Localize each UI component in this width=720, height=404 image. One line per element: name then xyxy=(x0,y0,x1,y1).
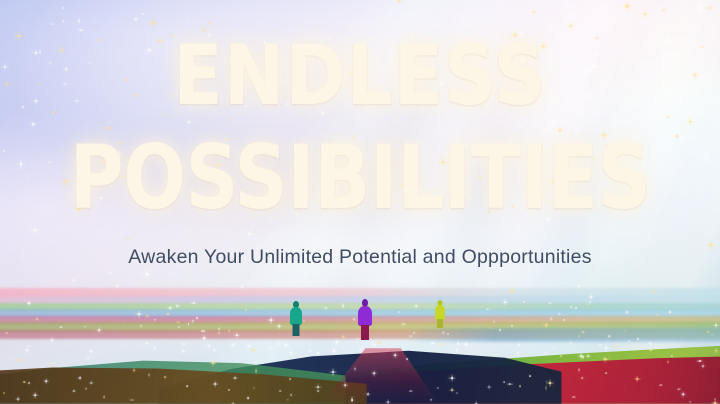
figure-center xyxy=(357,299,372,340)
figure-left xyxy=(289,301,302,335)
poster-subtitle: Awaken Your Unlimited Potential and Oppp… xyxy=(0,246,720,269)
figure-right-legs xyxy=(437,319,443,328)
figure-center-legs xyxy=(361,325,369,340)
figure-left-body xyxy=(290,307,302,325)
figure-left-legs xyxy=(292,324,299,336)
figure-right xyxy=(434,300,445,328)
headline-line-1: ENDLESS xyxy=(11,36,709,116)
water-sliver-right xyxy=(403,328,720,342)
figure-center-body xyxy=(358,306,372,326)
headline-line-2: POSSIBILITIES xyxy=(25,136,695,220)
figure-right-body xyxy=(435,305,445,320)
poster-canvas: ENDLESS POSSIBILITIES Awaken Your Unlimi… xyxy=(0,0,720,404)
